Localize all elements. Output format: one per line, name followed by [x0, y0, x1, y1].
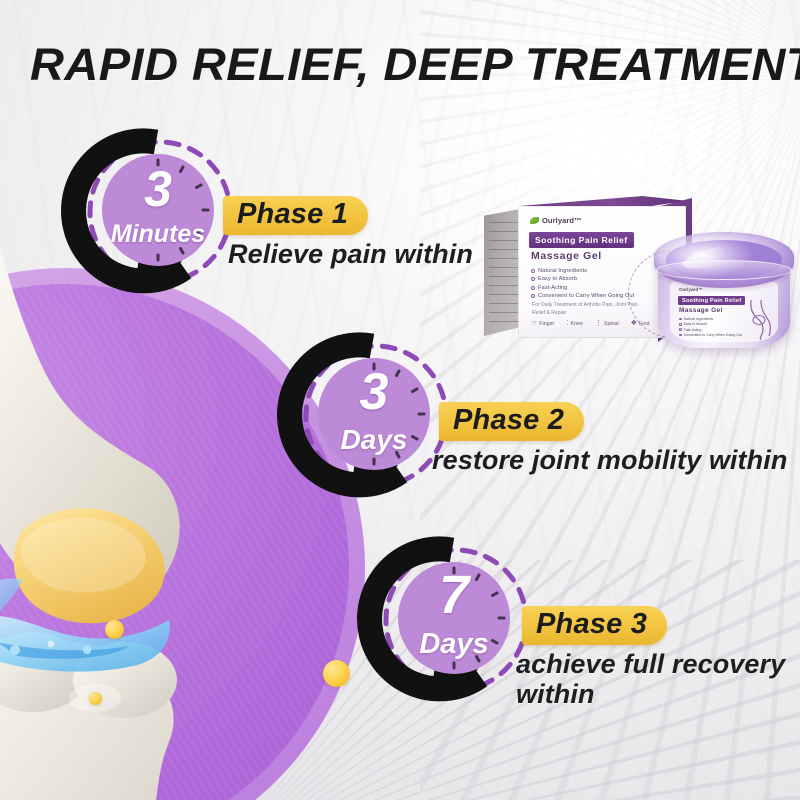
clock-number: 3 [80, 164, 236, 214]
gel-bubble [83, 646, 91, 654]
knee-outline-icon [742, 300, 774, 340]
product-fine-print: For Daily Treatment of Arthritis Pain, J… [532, 302, 652, 318]
list-item: Fast-Acting [679, 328, 742, 332]
accent-dot [89, 692, 102, 705]
clock-number: 7 [376, 568, 532, 622]
list-item: Natural Ingredients [679, 317, 742, 321]
bullet-diamond-icon [531, 277, 535, 281]
product-jar: Ourlyard™ Soothing Pain Relief Massage G… [654, 230, 794, 352]
clock-unit: Minutes [80, 222, 236, 247]
bullet-diamond-icon [531, 294, 535, 298]
jar-bullet-list: Natural Ingredients Easy to Absorb Fast-… [679, 317, 742, 338]
phase-block-1: 3 Minutes Phase 1 Relieve pain within [80, 136, 510, 316]
list-item: Natural Ingredients [531, 268, 667, 274]
jar-title: Soothing Pain Relief [678, 296, 745, 305]
phase-badge-2: Phase 2 [439, 402, 584, 441]
finger-icon: ☞ Finger [531, 320, 554, 327]
product-brand-row: Ourlyard™ [530, 216, 582, 225]
foot-icon: ❖ Foot [631, 320, 650, 327]
phase-description-2: restore joint mobility within [432, 446, 787, 476]
phase-block-2: 3 Days Phase 2 restore joint mobility wi… [296, 340, 800, 520]
clock-number: 3 [296, 366, 452, 418]
bullet-diamond-icon [531, 269, 535, 273]
clock-unit: Days [296, 426, 452, 454]
bullet-diamond-icon [679, 328, 682, 331]
phase-description-3: achieve full recovery within [516, 650, 796, 709]
product-title: Soothing Pain Relief [529, 232, 634, 248]
clock-arrow-icon: 7 Days [376, 544, 532, 700]
phase-badge-label: Phase 2 [453, 405, 564, 436]
clock-unit: Days [376, 630, 532, 659]
phase-badge-label: Phase 1 [237, 199, 348, 230]
accent-dot [105, 620, 124, 639]
bullet-diamond-icon [531, 286, 535, 290]
bullet-diamond-icon [679, 318, 682, 321]
jar-brand-name: Ourlyard™ [679, 287, 703, 292]
phase-badge-1: Phase 1 [223, 196, 368, 235]
poster-canvas: RAPID RELIEF, DEEP TREATMENT [0, 0, 800, 800]
phase-description-1: Relieve pain within [228, 240, 473, 270]
product-use-icons: ☞ Finger ⁚ Knee ⋮ Spinal ❖ Foot [531, 320, 650, 327]
page-title: RAPID RELIEF, DEEP TREATMENT [30, 42, 800, 87]
spine-icon: ⋮ Spinal [595, 320, 619, 327]
bullet-diamond-icon [679, 323, 682, 326]
bullet-diamond-icon [679, 334, 682, 337]
phase-badge-label: Phase 3 [536, 609, 647, 640]
gel-bubble [10, 645, 20, 655]
jar-label: Ourlyard™ Soothing Pain Relief Massage G… [670, 282, 778, 342]
product-bullet-list: Natural Ingredients Easy to Absorb Fast-… [531, 268, 667, 302]
product-shot: RELIEF OF ARTHRITIS PAIN IN LITTLE AS 2 … [478, 188, 800, 363]
phase-badge-3: Phase 3 [522, 606, 667, 645]
list-item: Fast-Acting [531, 285, 667, 291]
accent-dot [323, 660, 350, 687]
knee-icon: ⁚ Knee [566, 320, 583, 327]
phase-block-3: 7 Days Phase 3 achieve full recovery wit… [376, 544, 800, 744]
leaf-icon [530, 217, 539, 224]
list-item: Easy to Absorb [531, 276, 667, 282]
product-brand-name: Ourlyard™ [542, 216, 582, 225]
list-item: Easy to Absorb [679, 322, 742, 326]
clock-arrow-icon: 3 Days [296, 340, 452, 496]
jar-subtitle: Massage Gel [679, 307, 723, 314]
jar-rim [656, 260, 792, 280]
list-item: Convenient to Carry When Going Out [531, 293, 667, 299]
list-item: Convenient to Carry When Going Out [679, 333, 742, 337]
gel-bubble [48, 641, 55, 648]
product-subtitle: Massage Gel [531, 250, 602, 262]
clock-arrow-icon: 3 Minutes [80, 136, 236, 292]
